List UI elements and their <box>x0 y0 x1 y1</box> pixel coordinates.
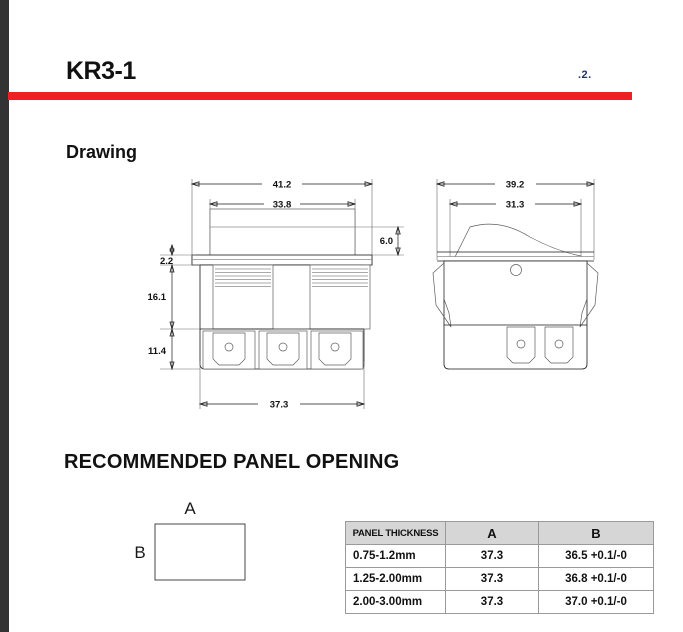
red-divider-rule <box>8 92 632 100</box>
datasheet-page: KR3-1 .2. Drawing 41.2 <box>0 0 683 632</box>
panel-opening-spec-table: PANEL THICKNESS A B 0.75-1.2mm 37.3 36.5… <box>345 521 654 614</box>
side-view-drawing: 39.2 31.3 <box>433 179 598 369</box>
cell-b: 36.5 +0.1/-0 <box>539 545 654 568</box>
dim-label-16-1: 16.1 <box>148 292 167 303</box>
dim-label-6-0: 6.0 <box>380 236 393 247</box>
dim-label-2-2: 2.2 <box>160 256 173 267</box>
page-number: .2. <box>578 69 592 81</box>
cell-panel-thickness: 1.25-2.00mm <box>346 568 446 591</box>
technical-drawings: 41.2 33.8 <box>0 165 683 430</box>
panel-opening-label-b: B <box>134 543 145 562</box>
cell-b: 37.0 +0.1/-0 <box>539 591 654 614</box>
column-header-panel-thickness: PANEL THICKNESS <box>346 522 446 545</box>
terminal-tabs-front <box>203 331 363 369</box>
cell-a: 37.3 <box>446 591 539 614</box>
page-title: KR3-1 <box>66 57 136 86</box>
dimension-bezel-height-6-0: 6.0 <box>355 227 404 255</box>
panel-opening-section-heading: RECOMMENDED PANEL OPENING <box>64 451 399 474</box>
column-header-a: A <box>446 522 539 545</box>
dimension-terminal-height-11-4: 11.4 <box>148 329 200 369</box>
center-hole <box>511 265 522 276</box>
terminal-tab <box>507 327 535 363</box>
table-row: 0.75-1.2mm 37.3 36.5 +0.1/-0 <box>346 545 654 568</box>
panel-opening-label-a: A <box>184 499 196 518</box>
table-header-row: PANEL THICKNESS A B <box>346 522 654 545</box>
dim-label-37-3: 37.3 <box>270 400 289 411</box>
cell-panel-thickness: 2.00-3.00mm <box>346 591 446 614</box>
cell-a: 37.3 <box>446 545 539 568</box>
cell-a: 37.3 <box>446 568 539 591</box>
dimension-side-overall-39-2: 39.2 <box>437 179 594 260</box>
terminal-tab <box>203 331 255 369</box>
panel-opening-diagram: A B <box>100 492 280 602</box>
dim-label-31-3: 31.3 <box>506 200 525 211</box>
drawing-section-heading: Drawing <box>66 142 137 163</box>
table-row: 2.00-3.00mm 37.3 37.0 +0.1/-0 <box>346 591 654 614</box>
terminal-tab <box>545 327 573 363</box>
dimension-flange-2-2: 2.2 <box>160 245 196 267</box>
table-row: 1.25-2.00mm 37.3 36.8 +0.1/-0 <box>346 568 654 591</box>
dimension-body-height-16-1: 16.1 <box>148 265 201 329</box>
dim-label-41-2: 41.2 <box>273 180 292 191</box>
cell-b: 36.8 +0.1/-0 <box>539 568 654 591</box>
dim-label-11-4: 11.4 <box>148 346 167 357</box>
terminal-tab <box>259 331 307 369</box>
front-view-drawing: 41.2 33.8 <box>148 179 405 411</box>
dim-label-39-2: 39.2 <box>506 180 525 191</box>
column-header-b: B <box>539 522 654 545</box>
cell-panel-thickness: 0.75-1.2mm <box>346 545 446 568</box>
spec-table-container: PANEL THICKNESS A B 0.75-1.2mm 37.3 36.5… <box>345 521 654 614</box>
terminal-tab <box>311 331 363 369</box>
